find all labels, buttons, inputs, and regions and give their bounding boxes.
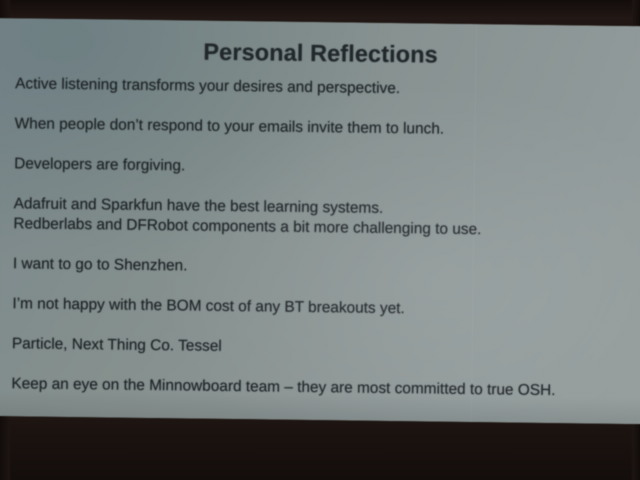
slide-content: Personal Reflections Active listening tr… xyxy=(0,18,640,424)
slide-body-line: I’m not happy with the BOM cost of any B… xyxy=(12,294,632,322)
projected-slide-photo: Personal Reflections Active listening tr… xyxy=(0,0,640,480)
slide-body-line: When people don’t respond to your emails… xyxy=(15,114,635,142)
slide-body: Active listening transforms your desires… xyxy=(11,74,635,402)
projection-screen: Personal Reflections Active listening tr… xyxy=(0,18,640,424)
slide-body-line: Keep an eye on the Minnowboard team – th… xyxy=(11,374,631,402)
slide-title: Personal Reflections xyxy=(0,36,640,71)
slide-body-line: Developers are forgiving. xyxy=(14,154,634,182)
slide-body-line: Particle, Next Thing Co. Tessel xyxy=(12,334,632,362)
slide-body-line: I want to go to Shenzhen. xyxy=(13,254,633,282)
slide-body-line: Active listening transforms your desires… xyxy=(15,74,635,102)
